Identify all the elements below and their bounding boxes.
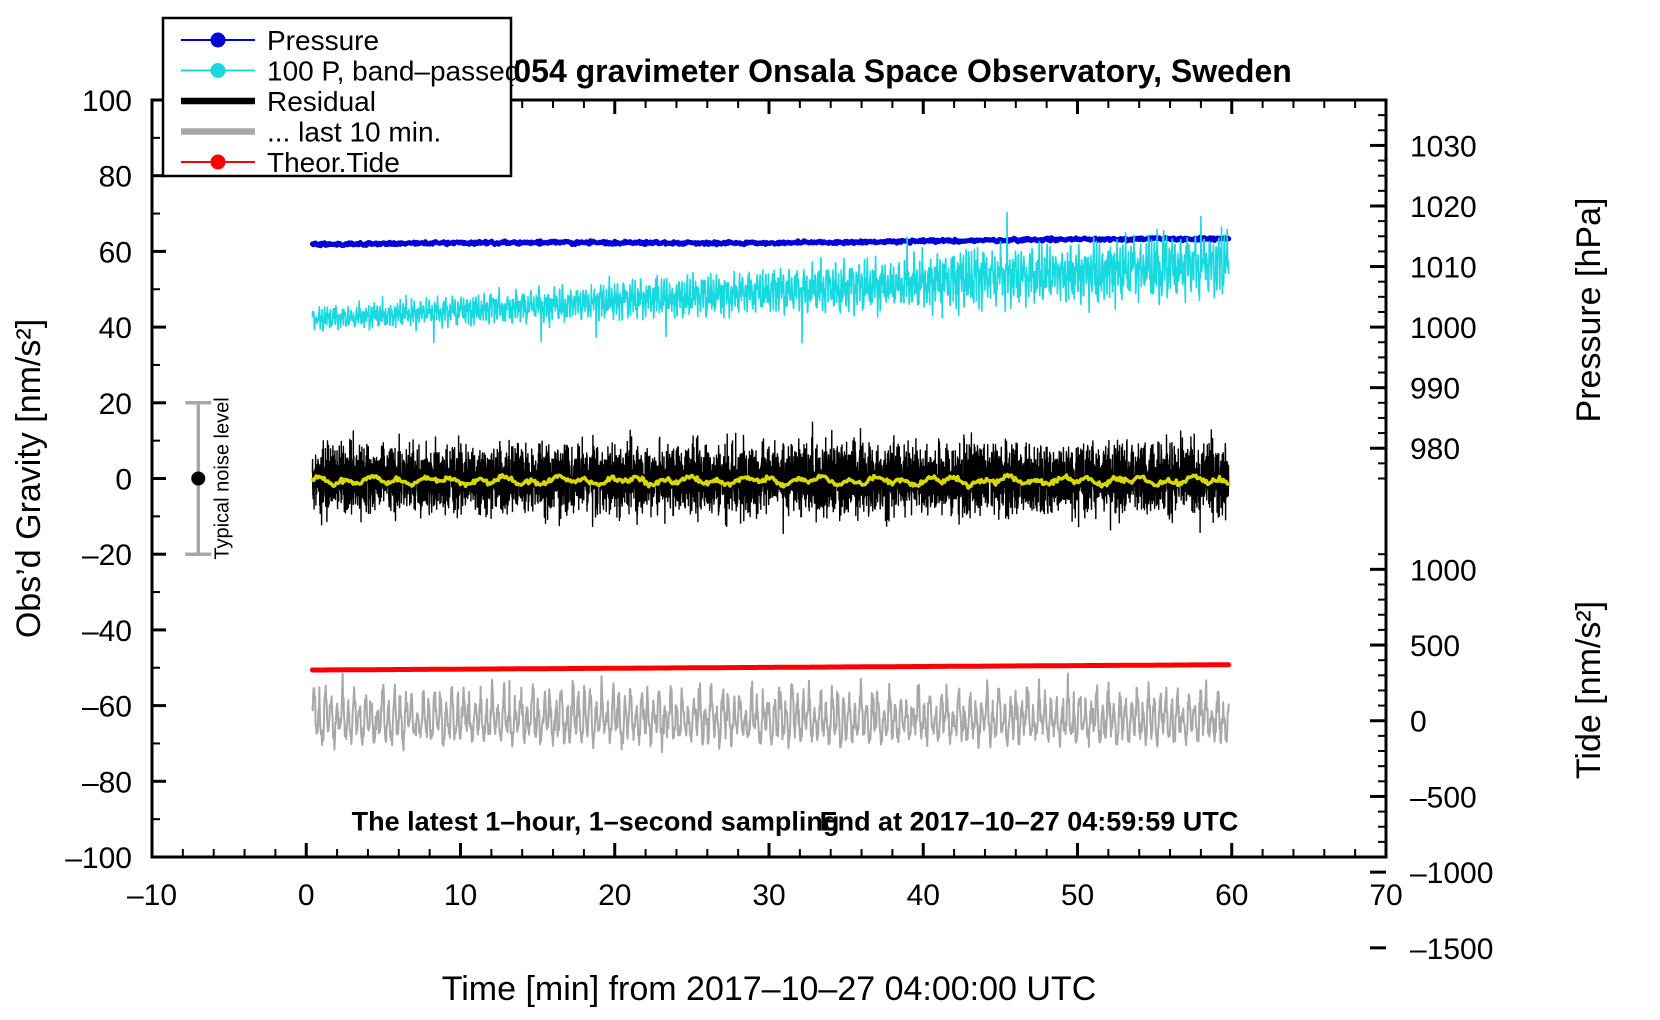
- tide-tick-label: 500: [1410, 630, 1460, 663]
- noise-level-dot: [191, 472, 205, 486]
- end-time-note: End at 2017–10–27 04:59:59 UTC: [820, 807, 1239, 837]
- legend-marker-0: [211, 33, 226, 48]
- tide-tick-label: 0: [1410, 706, 1427, 739]
- tide-tick-label: –1000: [1410, 857, 1493, 890]
- y-tick-label: 0: [115, 464, 132, 497]
- pressure-tick-label: 990: [1410, 373, 1460, 406]
- pressure-tick-label: 1030: [1410, 130, 1477, 163]
- legend-marker-4: [211, 155, 226, 170]
- series-bandpassed-pressure: [312, 213, 1228, 343]
- y-tick-label: –80: [82, 766, 132, 799]
- y-axis-title: Obs’d Gravity [nm/s²]: [10, 319, 48, 638]
- legend-label-4: Theor.Tide: [267, 147, 400, 178]
- y-tick-label: 80: [99, 161, 132, 194]
- x-tick-label: –10: [127, 879, 177, 912]
- legend-marker-1: [211, 63, 226, 78]
- y-tick-label: 40: [99, 312, 132, 345]
- series-pressure: [312, 237, 1228, 246]
- noise-level-label: Typical noise level: [211, 397, 233, 559]
- x-tick-label: 40: [907, 879, 940, 912]
- x-tick-label: 10: [444, 879, 477, 912]
- series-last-10-min: [312, 674, 1228, 753]
- x-axis-title: Time [min] from 2017–10–27 04:00:00 UTC: [442, 970, 1097, 1008]
- legend-label-3: ... last 10 min.: [267, 117, 441, 148]
- x-tick-label: 50: [1061, 879, 1094, 912]
- legend-label-2: Residual: [267, 86, 376, 117]
- x-tick-label: 0: [298, 879, 315, 912]
- chart-title: SCG_054 gravimeter Onsala Space Observat…: [426, 53, 1292, 89]
- x-tick-label: 70: [1369, 879, 1402, 912]
- x-tick-label: 30: [752, 879, 785, 912]
- x-tick-label: 20: [598, 879, 631, 912]
- series-theoretical-tide: [312, 665, 1228, 670]
- y-tick-label: –100: [65, 842, 132, 875]
- x-tick-label: 60: [1215, 879, 1248, 912]
- tide-tick-label: –1500: [1410, 933, 1493, 966]
- legend-label-0: Pressure: [267, 25, 379, 56]
- pressure-tick-label: 1020: [1410, 191, 1477, 224]
- latest-sampling-note: The latest 1–hour, 1–second sampling: [352, 807, 840, 837]
- tide-tick-label: 1000: [1410, 554, 1477, 587]
- y-axis-title-tide: Tide [nm/s²]: [1570, 601, 1608, 779]
- y-tick-label: –60: [82, 691, 132, 724]
- pressure-tick-label: 1010: [1410, 252, 1477, 285]
- y-tick-label: 100: [82, 85, 132, 118]
- y-tick-label: –20: [82, 539, 132, 572]
- y-tick-label: –40: [82, 615, 132, 648]
- y-tick-label: 60: [99, 236, 132, 269]
- gravimeter-plot: –10010203040506070–100–80–60–40–20020406…: [0, 0, 1660, 1020]
- y-axis-title-pressure: Pressure [hPa]: [1570, 198, 1608, 423]
- tide-tick-label: –500: [1410, 781, 1477, 814]
- y-tick-label: 20: [99, 388, 132, 421]
- figure-root: –10010203040506070–100–80–60–40–20020406…: [0, 0, 1660, 1020]
- pressure-tick-label: 1000: [1410, 312, 1477, 345]
- legend-label-1: 100 P, band–passed: [267, 56, 520, 87]
- pressure-tick-label: 980: [1410, 433, 1460, 466]
